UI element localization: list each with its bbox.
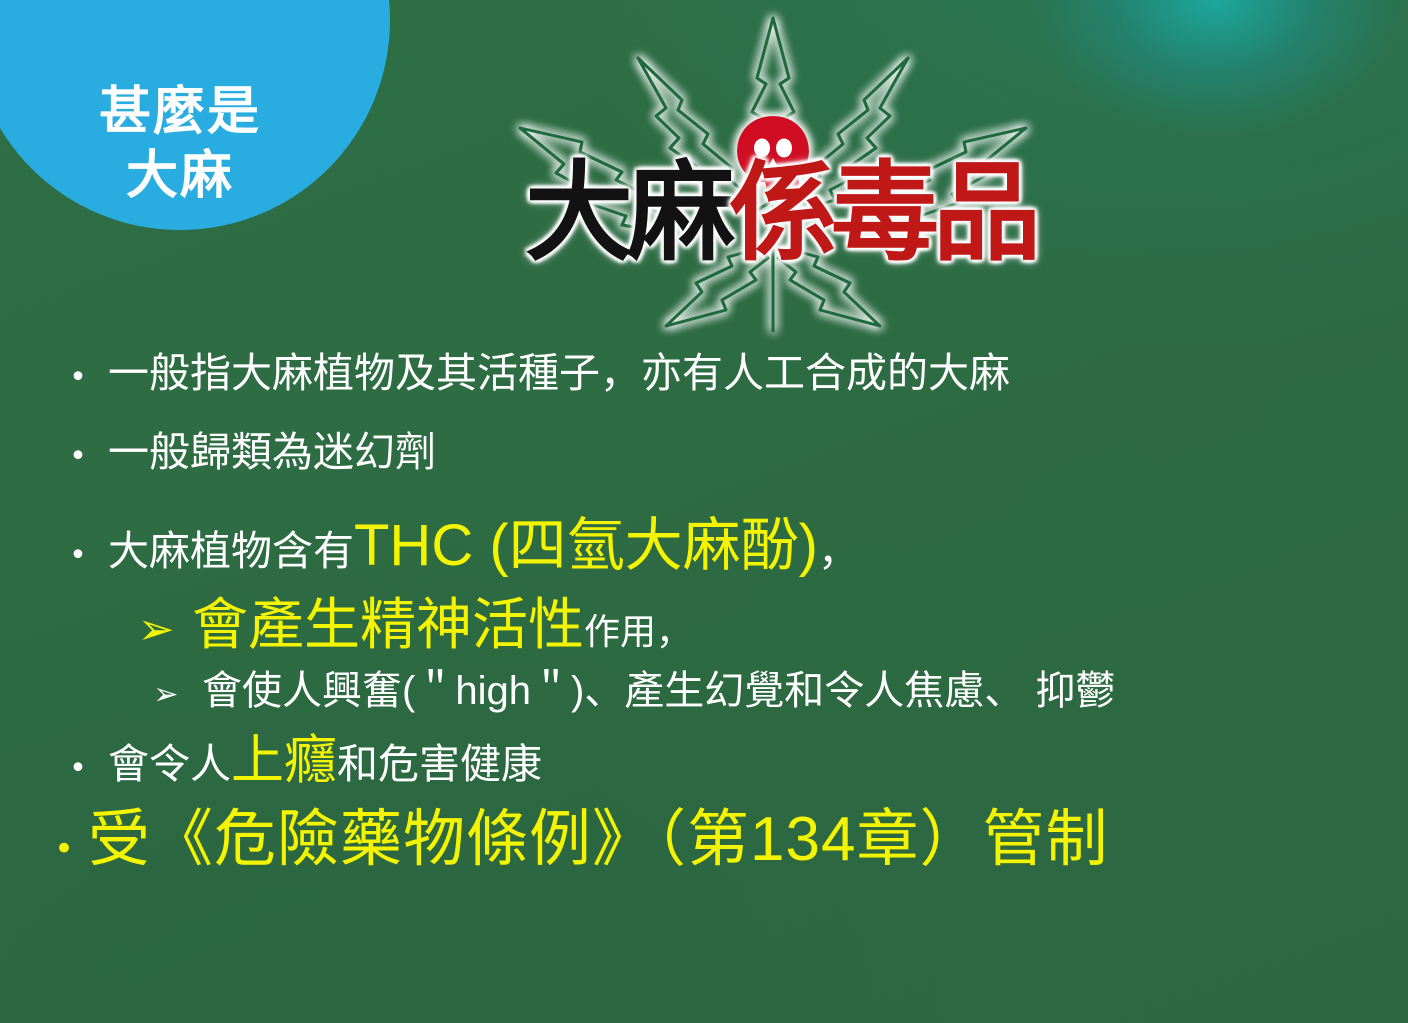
arrow-bullet-icon-yellow: ➢ <box>120 608 192 652</box>
title-badge-line-2: 大麻 <box>126 145 234 208</box>
bullet-marker-dot: • <box>48 754 108 784</box>
bullet-text-3: 大麻植物含有THC (四氫大麻酚)， <box>108 516 1408 577</box>
psychoactive-suffix: 作用， <box>584 611 692 652</box>
bullet-marker-dot: • <box>48 363 108 393</box>
sub-bullet-item-2: ➢ 會使人興奮(＂high＂)、產生幻覺和令人焦慮、 抑鬱 <box>0 671 1408 711</box>
bullet-text-1: 一般指大麻植物及其活種子，亦有人工合成的大麻 <box>108 352 1408 395</box>
thc-highlight: THC (四氫大麻酚) <box>354 513 818 578</box>
bullet-text-4: 會令人上癮和危害健康 <box>108 733 1408 789</box>
slide-canvas: 甚麼是 大麻 <box>0 0 1408 1023</box>
logo-text-black: 大麻 <box>525 151 729 276</box>
sub-bullet-text-2: 會使人興奮(＂high＂)、產生幻覺和令人焦慮、 抑鬱 <box>202 671 1408 711</box>
bullet-item-5: • 受《危險藥物條例》（第134章）管制 <box>0 809 1408 871</box>
title-badge-line-1: 甚麼是 <box>99 81 261 144</box>
bullet-marker-dot: • <box>48 442 108 472</box>
psychoactive-highlight: 會產生精神活性 <box>192 593 584 656</box>
bullet-text-2: 一般歸類為迷幻劑 <box>108 431 1408 474</box>
bullet-list: • 一般指大麻植物及其活種子，亦有人工合成的大麻 • 一般歸類為迷幻劑 • 大麻… <box>0 352 1408 871</box>
addiction-prefix: 會令人 <box>108 741 231 787</box>
sub-bullet-item-1: ➢ 會產生精神活性作用， <box>0 597 1408 653</box>
logo-wordmark: 大麻係毒品 <box>470 160 1090 268</box>
bullet-marker-dot-yellow: • <box>40 832 88 866</box>
bullet-item-4: • 會令人上癮和危害健康 <box>0 733 1408 789</box>
bullet-marker-dot: • <box>48 541 108 571</box>
bullet-item-1: • 一般指大麻植物及其活種子，亦有人工合成的大麻 <box>0 352 1408 395</box>
thc-suffix: ， <box>818 528 859 574</box>
addiction-highlight: 上癮 <box>231 731 337 790</box>
bullet-item-2: • 一般歸類為迷幻劑 <box>0 431 1408 474</box>
addiction-suffix: 和危害健康 <box>337 741 542 787</box>
thc-prefix: 大麻植物含有 <box>108 528 354 574</box>
logo-text-red: 係毒品 <box>729 151 1035 276</box>
cannabis-warning-logo: 大麻係毒品 <box>470 0 1090 345</box>
bullet-text-5: 受《危險藥物條例》（第134章）管制 <box>88 809 1408 871</box>
sub-bullet-text-1: 會產生精神活性作用， <box>192 597 1408 653</box>
arrow-bullet-icon-white: ➢ <box>130 680 202 710</box>
bullet-item-3: • 大麻植物含有THC (四氫大麻酚)， <box>0 516 1408 577</box>
